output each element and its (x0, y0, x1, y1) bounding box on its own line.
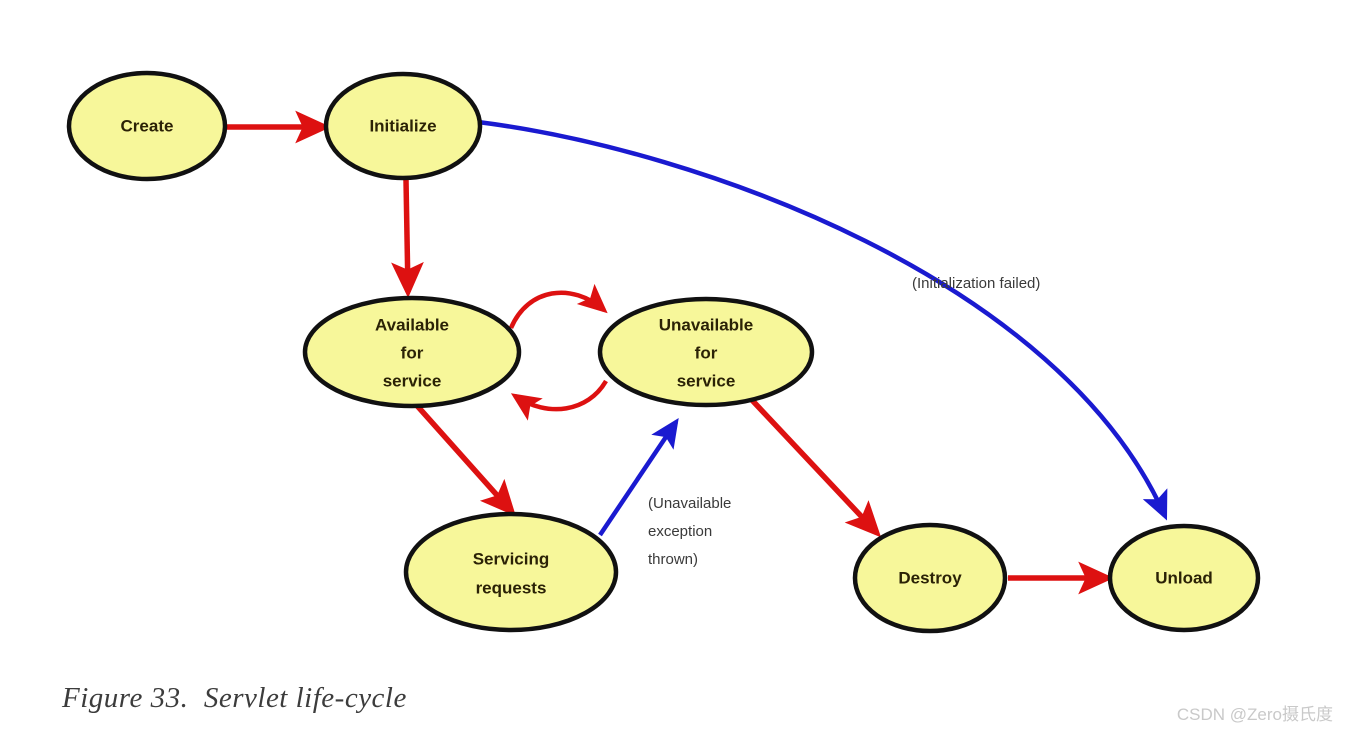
servlet-lifecycle-diagram: (Initialization failed) (Unavailable exc… (0, 0, 1345, 732)
edge-available-to-unavailable (511, 293, 604, 328)
node-unload-label: Unload (1155, 568, 1213, 587)
edge-unavailable-to-available (515, 381, 606, 409)
node-unavailable-for-service-label-line-1: Unavailable (659, 315, 754, 334)
node-available-for-service-label-line-1: Available (375, 315, 449, 334)
edge-initialize-to-unload (478, 122, 1165, 516)
node-create-label: Create (121, 116, 174, 135)
node-unavailable-for-service[interactable]: Unavailable for service (600, 299, 812, 405)
node-layer: Create Initialize Available for service … (69, 73, 1258, 631)
node-available-for-service[interactable]: Available for service (305, 298, 519, 406)
edge-available-to-servicing (412, 400, 512, 512)
annotation-unavailable-exception-line-1: (Unavailable (648, 495, 731, 512)
edge-servicing-to-unavailable (600, 422, 676, 535)
node-unavailable-for-service-label-line-3: service (677, 371, 736, 390)
node-initialize[interactable]: Initialize (326, 74, 480, 178)
node-available-for-service-label-line-2: for (401, 343, 424, 362)
csdn-watermark: CSDN @Zero摄氏度 (1177, 700, 1333, 725)
node-unload[interactable]: Unload (1110, 526, 1258, 630)
node-servicing-requests-label-line-2: requests (476, 578, 547, 597)
edge-initialize-to-available (406, 180, 408, 292)
node-destroy-label: Destroy (898, 568, 962, 587)
annotation-initialization-failed: (Initialization failed) (912, 275, 1040, 292)
node-servicing-requests-label-line-1: Servicing (473, 549, 550, 568)
edge-unavailable-to-destroy (750, 398, 877, 533)
servlet-lifecycle-figure: (Initialization failed) (Unavailable exc… (0, 0, 1345, 732)
node-unavailable-for-service-label-line-2: for (695, 343, 718, 362)
figure-caption: Figure 33. Servlet life-cycle (62, 682, 407, 715)
annotation-unavailable-exception: (Unavailable exception thrown) (648, 495, 731, 568)
node-servicing-requests[interactable]: Servicing requests (406, 514, 616, 630)
node-destroy[interactable]: Destroy (855, 525, 1005, 631)
annotation-unavailable-exception-line-2: exception (648, 523, 712, 540)
node-initialize-label: Initialize (369, 116, 436, 135)
annotation-unavailable-exception-line-3: thrown) (648, 551, 698, 568)
node-available-for-service-label-line-3: service (383, 371, 442, 390)
node-create[interactable]: Create (69, 73, 225, 179)
